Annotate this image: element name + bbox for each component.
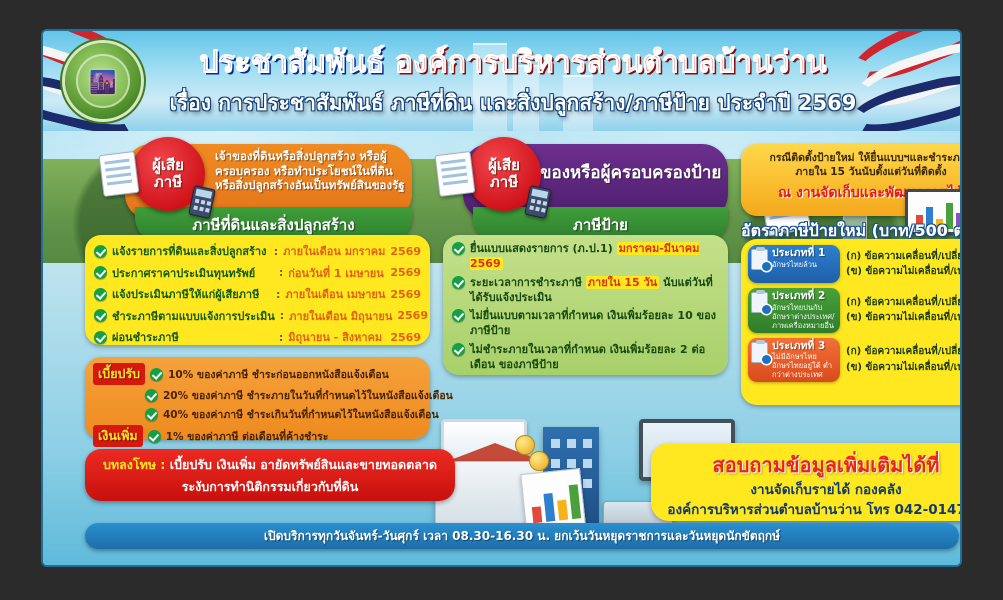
contact-box: สอบถามข้อมูลเพิ่มเติมได้ที่ งานจัดเก็บรา… (651, 443, 960, 521)
footer-hours-bar: เปิดบริการทุกวันจันทร์-วันศุกร์ เวลา 08.… (85, 523, 959, 549)
check-icon (452, 343, 465, 356)
law-line-2: ระงับการทำนิติกรรมเกี่ยวกับที่ดิน (95, 477, 445, 497)
clipboard-check-icon (751, 342, 768, 363)
rule-item: ระยะเวลาการชำระภาษี ภายใน 15 วัน นับแต่ว… (452, 276, 719, 306)
law-tag: บทลงโทษ : (103, 457, 165, 472)
sign-rate-table: ประเภทที่ 1 อักษรไทยล้วน (ก) ข้อความเคลื… (741, 239, 960, 405)
header-banner: 🌆 ประชาสัมพันธ์ องค์การบริหารส่วนตำบลบ้า… (43, 31, 960, 131)
contact-line-1: งานจัดเก็บรายได้ กองคลัง (657, 481, 960, 501)
check-icon (94, 288, 107, 301)
taxpayer-label-line2: ภาษี (154, 174, 182, 191)
schedule-task: ประกาศราคาประเมินทุนทรัพย์ (112, 264, 274, 282)
schedule-row: ประกาศราคาประเมินทุนทรัพย์ : ก่อนวันที่ … (94, 264, 421, 282)
taxpayer-label-line2: ภาษี (490, 174, 518, 191)
land-taxpayer-description: เจ้าของที่ดินหรือสิ่งปลูกสร้าง หรือผู้คร… (215, 149, 407, 193)
schedule-row: ผ่อนชำระภาษี : มิถุนายน - สิงหาคม 2569 (94, 328, 421, 346)
penalty-row: เบี้ยปรับ 10% ของค่าภาษี ชำระก่อนออกหนัง… (93, 363, 422, 385)
schedule-row: แจ้งรายการที่ดินและสิ่งปลูกสร้าง : ภายใน… (94, 242, 421, 260)
schedule-separator: : (276, 288, 280, 301)
rate-desc-b: (ข) ข้อความไม่เคลื่อนที่/เปลี่ยนไม่ได้ (846, 264, 960, 280)
title-part-1: ประชาสัมพันธ์ (199, 45, 384, 80)
penalty-text: 10% ของค่าภาษี ชำระก่อนออกหนังสือแจ้งเตื… (168, 366, 389, 383)
surcharge-row: เงินเพิ่ม 1% ของค่าภาษี ต่อเดือนที่ค้างช… (93, 425, 422, 447)
municipality-seal-logo: 🌆 (65, 43, 141, 119)
surcharge-tag: เงินเพิ่ม (93, 425, 143, 447)
clipboard-check-icon (751, 292, 768, 313)
rule-item: ยื่นแบบแสดงรายการ (ภ.ป.1) มกราคม-มีนาคม … (452, 242, 719, 272)
rate-desc-b: (ข) ข้อความไม่เคลื่อนที่/เปลี่ยนไม่ได้ (846, 360, 960, 376)
chart-illustration (520, 468, 586, 530)
penalty-text: 20% ของค่าภาษี ชำระภายในวันที่กำหนดไว้ใน… (163, 387, 453, 404)
land-tax-schedule-panel: แจ้งรายการที่ดินและสิ่งปลูกสร้าง : ภายใน… (85, 235, 430, 345)
rate-descriptions: (ก) ข้อความเคลื่อนที่/เปลี่ยนได้ (ข) ข้อ… (846, 344, 960, 375)
rate-desc-b: (ข) ข้อความไม่เคลื่อนที่/เปลี่ยนไม่ได้ (846, 310, 960, 326)
table-row: ประเภทที่ 1 อักษรไทยล้วน (ก) ข้อความเคลื… (748, 245, 960, 283)
check-icon (150, 368, 163, 381)
coin-icon (529, 451, 549, 471)
seal-motif-icon: 🌆 (89, 70, 116, 95)
rate-desc-a: (ก) ข้อความเคลื่อนที่/เปลี่ยนได้ (846, 295, 960, 311)
schedule-period: ภายในเดือน เมษายน (285, 285, 385, 303)
schedule-period: มิถุนายน - สิงหาคม (288, 328, 385, 346)
check-icon (148, 430, 161, 443)
check-icon (94, 331, 107, 344)
schedule-year: 2569 (390, 266, 421, 279)
table-row: ประเภทที่ 3 ไม่มีอักษรไทย อักษรไทยอยู่ใต… (748, 338, 960, 383)
schedule-row: แจ้งประเมินภาษีให้แก่ผู้เสียภาษี : ภายใน… (94, 285, 421, 303)
table-row: ประเภทที่ 2 อักษรไทยปนกับอักษราต่างประเท… (748, 288, 960, 333)
law-line-1: บทลงโทษ : เบี้ยปรับ เงินเพิ่ม อายัดทรัพย… (95, 455, 445, 475)
document-icon (435, 151, 476, 197)
schedule-year: 2569 (397, 309, 428, 322)
sign-tax-rules-panel: ยื่นแบบแสดงรายการ (ภ.ป.1) มกราคม-มีนาคม … (443, 235, 728, 375)
rate-category-1: ประเภทที่ 1 อักษรไทยล้วน (748, 245, 840, 283)
notice-line-1: กรณีติดตั้งป้ายใหม่ ให้ยื่นแบบฯและชำระภา… (749, 151, 960, 165)
check-icon (145, 408, 158, 421)
check-icon (452, 276, 465, 289)
rate-category-detail: ไม่มีอักษรไทย อักษรไทยอยู่ใต้ ต่ำกว่าต่า… (772, 352, 836, 379)
schedule-separator: : (274, 245, 278, 258)
taxpayer-label-line1: ผู้เสีย (488, 157, 520, 174)
check-icon (452, 242, 465, 255)
rule-text: ยื่นแบบแสดงรายการ (ภ.ป.1) มกราคม-มีนาคม … (470, 242, 719, 272)
schedule-period: ภายในเดือน มกราคม (283, 242, 385, 260)
penalty-panel: เบี้ยปรับ 10% ของค่าภาษี ชำระก่อนออกหนัง… (85, 357, 430, 439)
rate-category-detail: อักษรไทยปนกับอักษราต่างประเทศ/ภาพเครื่อง… (772, 303, 836, 330)
schedule-year: 2569 (390, 331, 421, 344)
screenshot-canvas: 🌆 ประชาสัมพันธ์ องค์การบริหารส่วนตำบลบ้า… (0, 0, 1003, 600)
rate-category-title: ประเภทที่ 1 (772, 248, 836, 260)
surcharge-text: 1% ของค่าภาษี ต่อเดือนที่ค้างชำระ (166, 428, 329, 445)
schedule-period: ภายในเดือน มิถุนายน (289, 307, 392, 325)
schedule-separator: : (280, 309, 284, 322)
clipboard-check-icon (751, 249, 768, 270)
taxpayer-label-line1: ผู้เสีย (152, 157, 184, 174)
law-text-1: เบี้ยปรับ เงินเพิ่ม อายัดทรัพย์สินและขาย… (170, 457, 437, 472)
penalty-row: 40% ของค่าภาษี ชำระเกินวันที่กำหนดไว้ในห… (93, 406, 422, 423)
legal-penalty-bar: บทลงโทษ : เบี้ยปรับ เงินเพิ่ม อายัดทรัพย… (85, 449, 455, 501)
document-icon (99, 151, 140, 197)
rate-descriptions: (ก) ข้อความเคลื่อนที่/เปลี่ยนได้ (ข) ข้อ… (846, 295, 960, 326)
schedule-task: แจ้งประเมินภาษีให้แก่ผู้เสียภาษี (112, 285, 271, 303)
check-icon (94, 266, 107, 279)
rate-desc-a: (ก) ข้อความเคลื่อนที่/เปลี่ยนได้ (846, 344, 960, 360)
schedule-row: ชำระภาษีตามแบบแจ้งการประเมิน : ภายในเดือ… (94, 307, 421, 325)
schedule-task: แจ้งรายการที่ดินและสิ่งปลูกสร้าง (112, 242, 269, 260)
check-icon (94, 245, 107, 258)
check-icon (94, 309, 107, 322)
poster: 🌆 ประชาสัมพันธ์ องค์การบริหารส่วนตำบลบ้า… (43, 31, 960, 565)
check-icon (452, 309, 465, 322)
schedule-period: ก่อนวันที่ 1 เมษายน (288, 264, 385, 282)
rule-text: ระยะเวลาการชำระภาษี ภายใน 15 วัน นับแต่ว… (470, 276, 719, 306)
schedule-separator: : (279, 331, 283, 344)
page-title: ประชาสัมพันธ์ องค์การบริหารส่วนตำบลบ้านว… (163, 47, 863, 79)
schedule-task: ผ่อนชำระภาษี (112, 328, 274, 346)
rule-pre: ระยะเวลาการชำระภาษี (470, 276, 582, 289)
rate-category-3: ประเภทที่ 3 ไม่มีอักษรไทย อักษรไทยอยู่ใต… (748, 338, 840, 383)
schedule-year: 2569 (390, 288, 421, 301)
rate-category-detail: อักษรไทยล้วน (772, 260, 836, 269)
penalty-text: 40% ของค่าภาษี ชำระเกินวันที่กำหนดไว้ในห… (163, 406, 439, 423)
page-subtitle: เรื่อง การประชาสัมพันธ์ ภาษีที่ดิน และสิ… (163, 87, 863, 120)
rule-highlight: ภายใน 15 วัน (586, 276, 659, 289)
rate-descriptions: (ก) ข้อความเคลื่อนที่/เปลี่ยนได้ (ข) ข้อ… (846, 249, 960, 280)
sign-tax-bar-label: ภาษีป้าย (573, 213, 628, 237)
rate-category-2: ประเภทที่ 2 อักษรไทยปนกับอักษราต่างประเท… (748, 288, 840, 333)
rate-desc-a: (ก) ข้อความเคลื่อนที่/เปลี่ยนได้ (846, 249, 960, 265)
rule-pre: ยื่นแบบแสดงรายการ (ภ.ป.1) (470, 242, 613, 255)
rate-category-title: ประเภทที่ 2 (772, 291, 836, 303)
contact-line-2: องค์การบริหารส่วนตำบลบ้านว่าน โทร 042-01… (657, 501, 960, 521)
rule-item: ไม่ชำระภายในเวลาที่กำหนด เงินเพิ่มร้อยละ… (452, 343, 719, 373)
schedule-separator: : (279, 266, 283, 279)
rate-category-title: ประเภทที่ 3 (772, 341, 836, 353)
land-tax-bar-label: ภาษีที่ดินและสิ่งปลูกสร้าง (192, 213, 354, 237)
rule-text: ไม่ชำระภายในเวลาที่กำหนด เงินเพิ่มร้อยละ… (470, 343, 719, 373)
penalty-row: 20% ของค่าภาษี ชำระภายในวันที่กำหนดไว้ใน… (93, 387, 422, 404)
schedule-year: 2569 (390, 245, 421, 258)
contact-heading: สอบถามข้อมูลเพิ่มเติมได้ที่ (657, 449, 960, 481)
schedule-task: ชำระภาษีตามแบบแจ้งการประเมิน (112, 307, 275, 325)
rule-item: ไม่ยื่นแบบตามเวลาที่กำหนด เงินเพิ่มร้อยล… (452, 309, 719, 339)
title-part-2: องค์การบริหารส่วนตำบลบ้านว่าน (395, 45, 827, 80)
rule-text: ไม่ยื่นแบบตามเวลาที่กำหนด เงินเพิ่มร้อยล… (470, 309, 719, 339)
notice-line-2: ภายใน 15 วันนับตั้งแต่วันที่ติดตั้ง (749, 165, 960, 179)
fine-tag: เบี้ยปรับ (93, 363, 145, 385)
sign-taxpayer-description: เจ้าของหรือผู้ครอบครองป้าย (513, 163, 723, 185)
footer-text: เปิดบริการทุกวันจันทร์-วันศุกร์ เวลา 08.… (264, 527, 780, 546)
check-icon (145, 389, 158, 402)
